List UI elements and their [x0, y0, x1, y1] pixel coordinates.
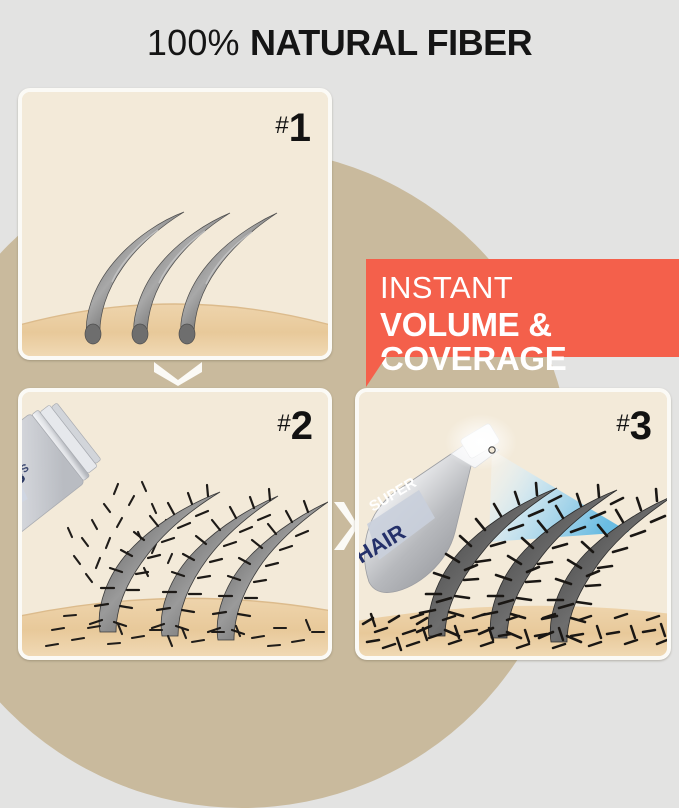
- chevron-down-icon: [150, 358, 206, 386]
- badge-number: 3: [630, 404, 651, 448]
- badge-hash: #: [616, 410, 629, 437]
- chevron-right-icon: [330, 498, 358, 554]
- badge-number: 1: [289, 106, 310, 150]
- step-badge-3: #3: [616, 406, 651, 446]
- nozzle-point: [489, 447, 495, 453]
- banner-line-instant: INSTANT: [380, 272, 675, 305]
- badge-hash: #: [275, 112, 288, 139]
- title-prefix: 100%: [147, 22, 240, 63]
- step-panel-1: #1: [18, 88, 332, 360]
- badge-hash: #: [277, 410, 290, 437]
- page-title: 100% NATURAL FIBER: [0, 22, 679, 64]
- step-panel-2: SN SUPER MILLION: [18, 388, 332, 660]
- step-badge-2: #2: [277, 406, 312, 446]
- banner-text-block: INSTANT VOLUME & COVERAGE: [380, 272, 675, 377]
- badge-number: 2: [291, 404, 312, 448]
- title-emphasis: NATURAL FIBER: [250, 22, 532, 63]
- step-panel-3: SUPER HAIR: [355, 388, 671, 660]
- step-badge-1: #1: [275, 108, 310, 148]
- banner-line-volume-coverage: VOLUME & COVERAGE: [380, 308, 675, 377]
- infographic-canvas: 100% NATURAL FIBER: [0, 0, 679, 679]
- callout-banner: INSTANT VOLUME & COVERAGE: [366, 259, 679, 357]
